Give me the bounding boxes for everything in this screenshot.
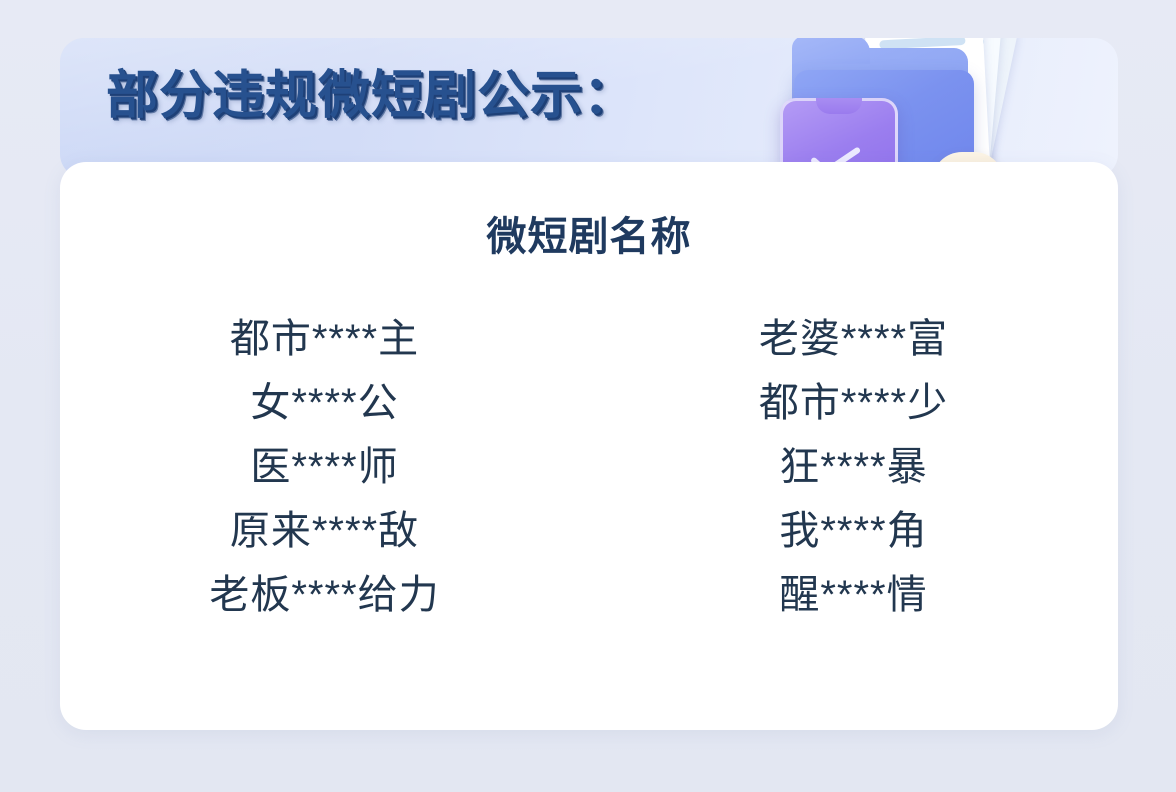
document-text-line <box>884 125 954 138</box>
document-text-line <box>894 74 972 90</box>
document-text-line <box>879 38 965 49</box>
list-item: 我****角 <box>779 499 927 563</box>
list-item: 狂****暴 <box>779 435 927 499</box>
list-item: 女****公 <box>250 371 398 435</box>
header-illustration <box>780 38 1110 178</box>
list-item: 醒****情 <box>779 563 927 627</box>
document-sheet-back-icon <box>877 38 1018 178</box>
folder-tab-icon <box>792 38 870 64</box>
drama-titles-left-column: 都市****主 女****公 医****师 原来****敌 老板****给力 <box>60 307 589 627</box>
content-card: 微短剧名称 都市****主 女****公 医****师 原来****敌 老板**… <box>60 162 1118 730</box>
list-item: 老婆****富 <box>759 307 948 371</box>
list-item: 老板****给力 <box>209 563 439 627</box>
shield-notch <box>816 98 862 114</box>
document-text-line <box>898 38 984 47</box>
list-item: 原来****敌 <box>230 499 419 563</box>
document-text-line <box>880 59 942 71</box>
page-root: 部分违规微短剧公示： <box>0 0 1176 792</box>
document-sheet-front-icon <box>864 38 990 175</box>
document-sheet-middle-icon <box>873 38 1002 171</box>
document-text-line <box>882 80 960 93</box>
list-item: 都市****少 <box>759 371 948 435</box>
drama-titles-right-column: 老婆****富 都市****少 狂****暴 我****角 醒****情 <box>589 307 1118 627</box>
list-item: 医****师 <box>250 435 398 499</box>
document-text-line <box>883 104 935 116</box>
page-title: 部分违规微短剧公示： <box>106 70 636 122</box>
folder-back-icon <box>792 48 968 176</box>
drama-titles-grid: 都市****主 女****公 医****师 原来****敌 老板****给力 老… <box>60 307 1118 627</box>
header-banner: 部分违规微短剧公示： <box>60 38 1118 178</box>
column-header-drama-name: 微短剧名称 <box>60 204 1118 262</box>
document-text-line <box>896 52 959 66</box>
list-item: 都市****主 <box>230 307 419 371</box>
